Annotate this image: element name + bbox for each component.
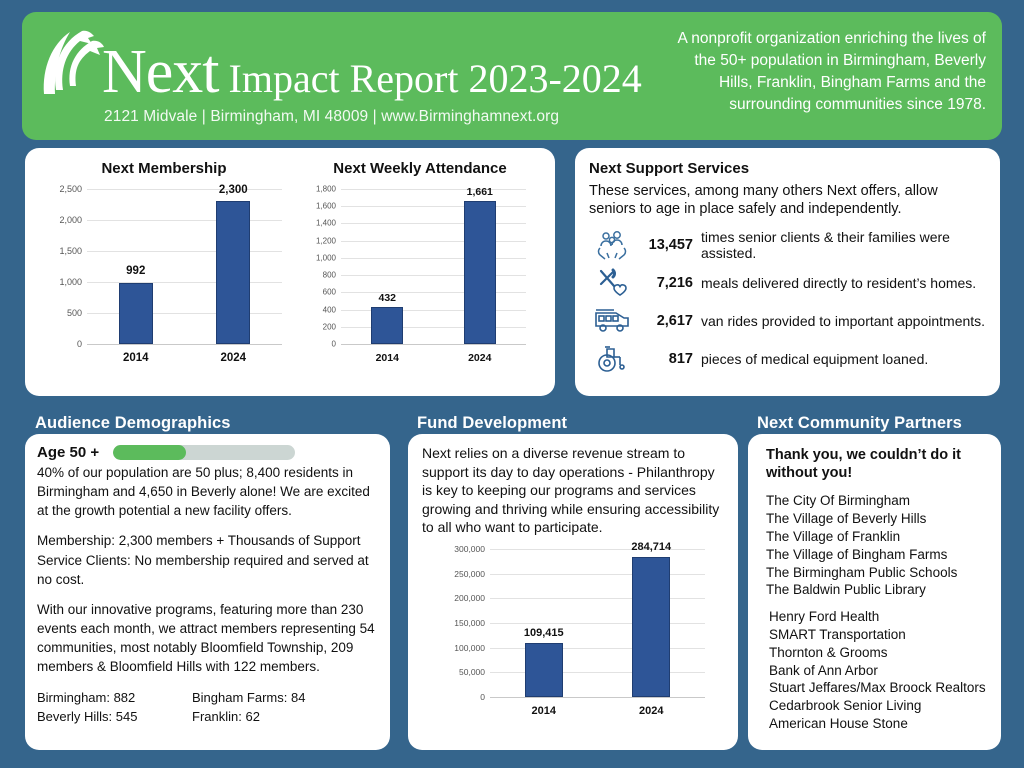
chart-x-axis-label: 2024 [639, 705, 663, 717]
chart-gridline [87, 251, 282, 252]
chart-gridline [341, 275, 526, 276]
partner-list-item: The City Of Birmingham [766, 492, 987, 510]
partner-list-item: The Village of Bingham Farms [766, 546, 987, 564]
membership-charts-card: Next Membership 05001,0001,5002,0002,500… [25, 148, 555, 396]
stat-beverly-hills: Beverly Hills: 545 [37, 707, 192, 727]
chart-bar-value-label: 1,661 [467, 186, 493, 198]
chart-y-tick-label: 1,200 [316, 236, 336, 245]
chart-gridline [490, 598, 705, 599]
section-title-audience-demographics: Audience Demographics [35, 414, 231, 433]
support-text-equipment: pieces of medical equipment loaned. [701, 351, 928, 367]
partner-list-item: SMART Transportation [769, 626, 987, 644]
chart-gridline [341, 189, 526, 190]
support-row-assists: 13,457 times senior clients & their fami… [589, 226, 986, 264]
chart-y-tick-label: 100,000 [454, 643, 485, 653]
mission-statement: A nonprofit organization enriching the l… [672, 12, 1002, 140]
audience-demographics-card: Age 50 + 40% of our population are 50 pl… [25, 434, 390, 750]
support-text-van-rides: van rides provided to important appointm… [701, 313, 985, 329]
chart-title-attendance: Next Weekly Attendance [295, 160, 545, 177]
partner-list-item: Cedarbrook Senior Living [769, 697, 987, 715]
chart-bar-value-label: 432 [378, 292, 396, 304]
support-row-van-rides: 2,617 van rides provided to important ap… [589, 302, 986, 340]
partner-list-item: Henry Ford Health [769, 608, 987, 626]
stat-bingham-farms: Bingham Farms: 84 [192, 688, 347, 708]
chart-y-tick-label: 200,000 [454, 593, 485, 603]
support-services-intro: These services, among many others Next o… [589, 183, 986, 218]
next-swoosh-logo-icon [36, 28, 108, 104]
partner-list-item: The Birmingham Public Schools [766, 564, 987, 582]
chart-y-tick-label: 1,800 [316, 185, 336, 194]
chart-y-tick-label: 300,000 [454, 544, 485, 554]
chart-gridline [87, 282, 282, 283]
chart-y-tick-label: 2,000 [59, 215, 82, 225]
community-partners-card: Thank you, we couldn’t do it without you… [748, 434, 1001, 750]
chart-x-axis-label: 2014 [123, 352, 149, 364]
chart-y-tick-label: 0 [77, 339, 82, 349]
chart-bar-value-label: 284,714 [631, 541, 671, 553]
report-title: Impact Report 2023-2024 [229, 59, 642, 99]
chart-bar [216, 201, 250, 344]
chart-y-tick-label: 50,000 [459, 667, 485, 677]
chart-bar [464, 201, 496, 344]
support-text-assists: times senior clients & their families we… [701, 229, 986, 261]
stat-birmingham: Birmingham: 882 [37, 688, 192, 708]
header-left: Next Impact Report 2023-2024 2121 Midval… [22, 12, 672, 140]
chart-gridline [490, 574, 705, 575]
chart-title-membership: Next Membership [39, 160, 289, 177]
support-number-equipment: 817 [635, 351, 693, 367]
chart-y-tick-label: 400 [323, 305, 336, 314]
chart-gridline [87, 344, 282, 345]
chart-gridline [490, 549, 705, 550]
stats-column-2: Bingham Farms: 84 Franklin: 62 [192, 688, 347, 727]
support-row-meals: 7,216 meals delivered directly to reside… [589, 264, 986, 302]
chart-gridline [490, 672, 705, 673]
chart-y-tick-label: 200 [323, 322, 336, 331]
chart-gridline [87, 313, 282, 314]
support-row-equipment: 817 pieces of medical equipment loaned. [589, 340, 986, 378]
chart-bar-value-label: 992 [126, 265, 145, 277]
chart-y-tick-label: 1,500 [59, 246, 82, 256]
section-title-community-partners: Next Community Partners [757, 414, 962, 433]
logo-wordmark: Next [102, 43, 219, 102]
fund-development-card: Next relies on a diverse revenue stream … [408, 434, 738, 750]
partner-list-item: Thornton & Grooms [769, 644, 987, 662]
fork-knife-heart-icon [589, 265, 635, 301]
chart-gridline [490, 648, 705, 649]
hands-holding-family-icon [589, 227, 635, 263]
van-icon [589, 303, 635, 339]
chart-x-axis-label: 2014 [376, 352, 399, 364]
partner-list-item: Bank of Ann Arbor [769, 662, 987, 680]
chart-bar [632, 557, 670, 697]
chart-x-axis-label: 2014 [532, 705, 556, 717]
chart-bar [371, 307, 403, 344]
support-services-title: Next Support Services [589, 160, 986, 177]
fund-development-paragraph: Next relies on a diverse revenue stream … [422, 444, 724, 537]
demographics-community-stats: Birmingham: 882 Beverly Hills: 545 Bingh… [37, 688, 378, 727]
support-text-meals: meals delivered directly to resident’s h… [701, 275, 976, 291]
chart-y-tick-label: 1,600 [316, 202, 336, 211]
partner-list-item: American House Stone [769, 715, 987, 733]
report-header: Next Impact Report 2023-2024 2121 Midval… [22, 12, 1002, 140]
support-services-card: Next Support Services These services, am… [575, 148, 1000, 396]
chart-gridline [341, 292, 526, 293]
section-title-fund-development: Fund Development [417, 414, 567, 433]
logo-and-title: Next Impact Report 2023-2024 [36, 22, 672, 104]
chart-gridline [341, 206, 526, 207]
chart-gridline [341, 310, 526, 311]
chart-y-tick-label: 1,000 [316, 253, 336, 262]
age-label: Age 50 + [37, 444, 99, 461]
chart-y-tick-label: 250,000 [454, 569, 485, 579]
partner-list-item: The Village of Beverly Hills [766, 510, 987, 528]
chart-gridline [87, 220, 282, 221]
wheelchair-icon [589, 341, 635, 377]
stats-column-1: Birmingham: 882 Beverly Hills: 545 [37, 688, 192, 727]
chart-x-axis-label: 2024 [468, 352, 491, 364]
partner-list-item: The Baldwin Public Library [766, 581, 987, 599]
demographics-paragraph-1: 40% of our population are 50 plus; 8,400… [37, 463, 378, 520]
organization-address: 2121 Midvale | Birmingham, MI 48009 | ww… [104, 108, 672, 126]
support-number-assists: 13,457 [635, 237, 693, 253]
plot-area-attendance: 02004006008001,0001,2001,4001,6001,80043… [341, 189, 526, 344]
chart-y-tick-label: 600 [323, 288, 336, 297]
support-number-meals: 7,216 [635, 275, 693, 291]
chart-y-tick-label: 2,500 [59, 184, 82, 194]
chart-gridline [341, 258, 526, 259]
demographics-paragraph-2: Membership: 2,300 members + Thousands of… [37, 531, 378, 588]
partner-list-corporate: Henry Ford HealthSMART TransportationTho… [769, 608, 987, 733]
chart-y-tick-label: 800 [323, 271, 336, 280]
chart-gridline [490, 697, 705, 698]
chart-bar [119, 283, 153, 345]
chart-y-tick-label: 1,000 [59, 277, 82, 287]
impact-report-page: Next Impact Report 2023-2024 2121 Midval… [0, 0, 1024, 768]
plot-area-fund-development: 050,000100,000150,000200,000250,000300,0… [490, 549, 705, 697]
age-progress-fill [113, 445, 186, 460]
age-progress-row: Age 50 + [37, 444, 378, 461]
stat-franklin: Franklin: 62 [192, 707, 347, 727]
chart-gridline [341, 241, 526, 242]
chart-y-tick-label: 0 [480, 692, 485, 702]
chart-bar [525, 643, 563, 697]
chart-y-tick-label: 1,400 [316, 219, 336, 228]
chart-bar-value-label: 2,300 [219, 184, 248, 196]
plot-area-membership: 05001,0001,5002,0002,50099220142,3002024 [87, 189, 282, 344]
chart-gridline [87, 189, 282, 190]
chart-y-tick-label: 0 [332, 340, 336, 349]
partners-thank-you: Thank you, we couldn’t do it without you… [766, 446, 987, 482]
age-progress-bar [113, 445, 295, 460]
chart-bar-value-label: 109,415 [524, 627, 564, 639]
partner-list-government: The City Of BirminghamThe Village of Bev… [766, 492, 987, 599]
chart-next-weekly-attendance: Next Weekly Attendance 02004006008001,00… [295, 160, 545, 344]
partner-list-item: The Village of Franklin [766, 528, 987, 546]
chart-next-membership: Next Membership 05001,0001,5002,0002,500… [39, 160, 289, 344]
chart-gridline [341, 344, 526, 345]
chart-gridline [341, 327, 526, 328]
chart-gridline [341, 223, 526, 224]
support-number-van-rides: 2,617 [635, 313, 693, 329]
chart-y-tick-label: 150,000 [454, 618, 485, 628]
demographics-paragraph-3: With our innovative programs, featuring … [37, 600, 378, 677]
chart-x-axis-label: 2024 [220, 352, 246, 364]
chart-y-tick-label: 500 [67, 308, 82, 318]
partner-list-item: Stuart Jeffares/Max Broock Realtors [769, 679, 987, 697]
chart-gridline [490, 623, 705, 624]
